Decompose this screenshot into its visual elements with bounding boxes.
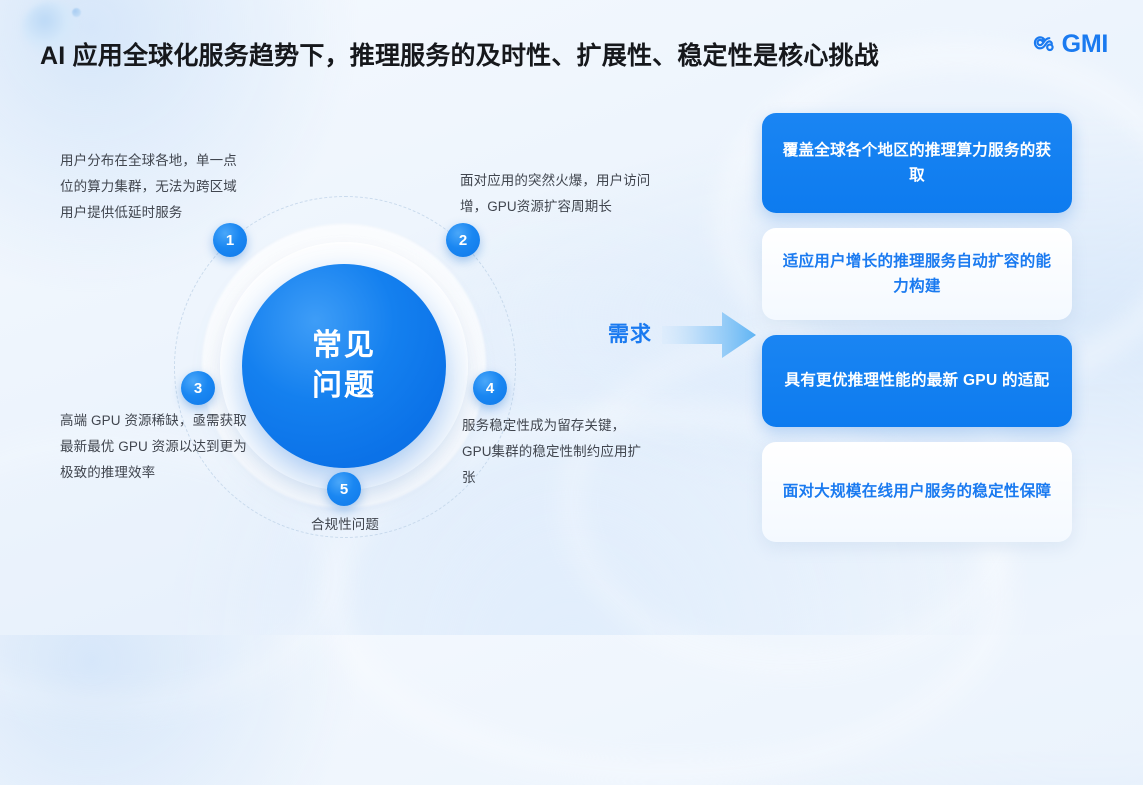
requirement-card-3[interactable]: 具有更优推理性能的最新 GPU 的适配 (762, 335, 1072, 427)
page-title: AI 应用全球化服务趋势下，推理服务的及时性、扩展性、稳定性是核心挑战 (40, 36, 879, 72)
requirement-connector: 需求 (600, 296, 760, 376)
problem-note-3: 高端 GPU 资源稀缺，亟需获取最新最优 GPU 资源以达到更为极致的推理效率 (60, 408, 255, 486)
requirement-label: 需求 (608, 318, 652, 348)
problem-note-4: 服务稳定性成为留存关键，GPU集群的稳定性制约应用扩张 (462, 413, 642, 491)
gmi-infinity-mark-icon (1032, 31, 1059, 58)
problem-note-1: 用户分布在全球各地，单一点位的算力集群，无法为跨区域用户提供低延时服务 (60, 148, 250, 226)
center-circle: 常见 问题 (242, 264, 446, 468)
badge-2[interactable]: 2 (446, 223, 480, 257)
badge-4[interactable]: 4 (473, 371, 507, 405)
requirement-card-list: 覆盖全球各个地区的推理算力服务的获取 适应用户增长的推理服务自动扩容的能力构建 … (762, 113, 1072, 542)
requirement-card-1[interactable]: 覆盖全球各个地区的推理算力服务的获取 (762, 113, 1072, 213)
logo-text: GMI (1062, 31, 1108, 58)
badge-1[interactable]: 1 (213, 223, 247, 257)
brand-logo: GMI (1032, 31, 1108, 58)
problem-note-5: 合规性问题 (255, 512, 435, 538)
center-label-line1: 常见 (312, 326, 376, 366)
center-label-line2: 问题 (312, 366, 376, 406)
badge-3[interactable]: 3 (181, 371, 215, 405)
badge-5[interactable]: 5 (327, 472, 361, 506)
slide-canvas: AI 应用全球化服务趋势下，推理服务的及时性、扩展性、稳定性是核心挑战 GMI … (0, 0, 1143, 635)
problem-note-2: 面对应用的突然火爆，用户访问增，GPU资源扩容周期长 (460, 168, 665, 220)
requirement-card-2[interactable]: 适应用户增长的推理服务自动扩容的能力构建 (762, 228, 1072, 320)
arrow-right-icon (662, 304, 758, 366)
requirement-card-4[interactable]: 面对大规模在线用户服务的稳定性保障 (762, 442, 1072, 542)
slide-header: AI 应用全球化服务趋势下，推理服务的及时性、扩展性、稳定性是核心挑战 GMI (0, 0, 1143, 96)
